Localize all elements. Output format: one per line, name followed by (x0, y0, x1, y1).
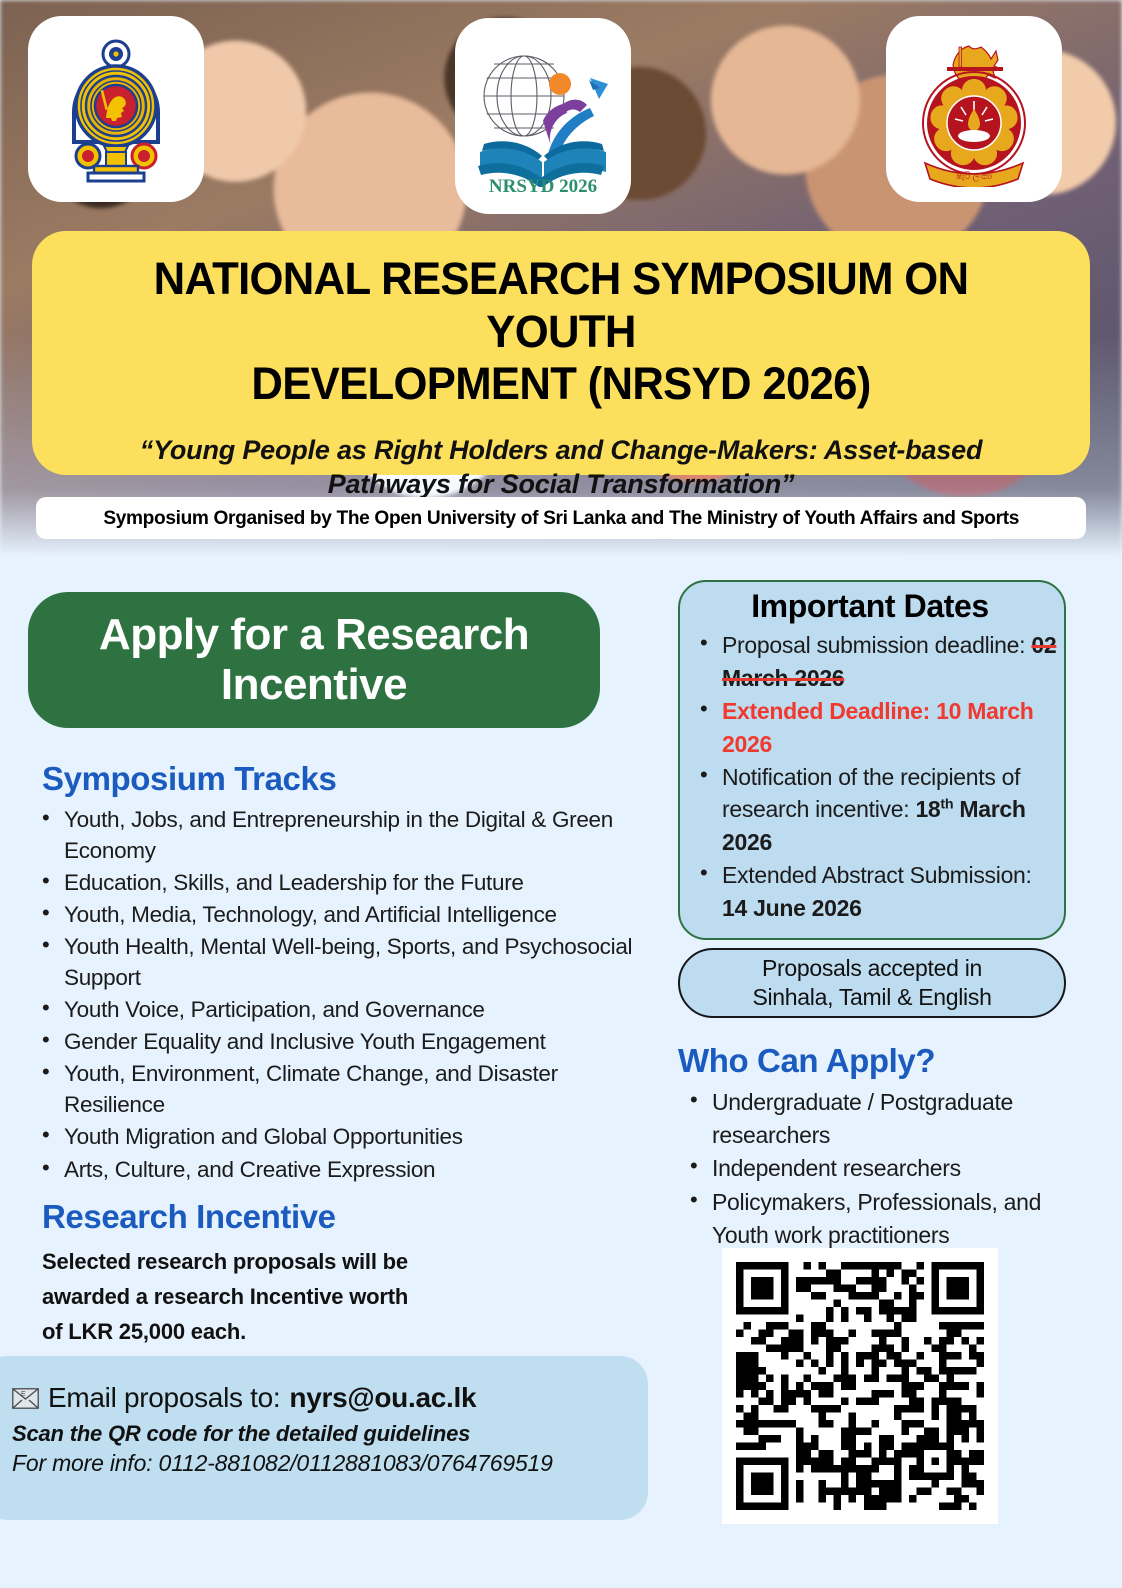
incentive-line-1: Selected research proposals will be (42, 1244, 562, 1279)
track-item: Gender Equality and Inclusive Youth Enga… (30, 1026, 650, 1057)
poster-title-banner: NATIONAL RESEARCH SYMPOSIUM ON YOUTH DEV… (32, 231, 1090, 475)
incentive-line-2: awarded a research Incentive worth (42, 1279, 562, 1314)
date-item-proposal-deadline: Proposal submission deadline: 02 March 2… (682, 629, 1058, 695)
sri-lanka-emblem-icon (46, 34, 186, 184)
nrsyd-2026-logo: NRSYD 2026 (455, 18, 631, 214)
research-incentive-heading: Research Incentive (42, 1198, 336, 1236)
svg-text:ෂැරි ලංකා: ෂැරි ලංකා (956, 171, 992, 182)
extended-abstract-label: Extended Abstract Submission: (722, 862, 1032, 888)
symposium-tracks-heading: Symposium Tracks (42, 760, 336, 798)
track-item: Youth, Environment, Climate Change, and … (30, 1058, 650, 1120)
track-item: Youth Migration and Global Opportunities (30, 1121, 650, 1152)
envelope-icon: E (12, 1388, 39, 1409)
notification-ordinal: th (940, 797, 953, 813)
svg-text:E: E (21, 1391, 26, 1398)
poster-title-line-1: NATIONAL RESEARCH SYMPOSIUM ON YOUTH (77, 253, 1045, 358)
apply-banner-label: Apply for a Research Incentive (28, 610, 600, 709)
important-dates-title: Important Dates (682, 588, 1058, 625)
qr-instruction: Scan the QR code for the detailed guidel… (12, 1421, 648, 1447)
research-incentive-body: Selected research proposals will be awar… (42, 1244, 562, 1350)
organiser-strip: Symposium Organised by The Open Universi… (36, 497, 1086, 539)
date-item-extended-abstract: Extended Abstract Submission: 14 June 20… (682, 859, 1058, 925)
poster-title-line-2: DEVELOPMENT (NRSYD 2026) (77, 358, 1045, 411)
incentive-line-3: of LKR 25,000 each. (42, 1314, 562, 1349)
svg-text:NRSYD 2026: NRSYD 2026 (489, 176, 597, 197)
track-item: Youth Health, Mental Well-being, Sports,… (30, 931, 650, 993)
poster-theme-line-2: Pathways for Social Transformation” (62, 467, 1060, 501)
track-item: Youth Voice, Participation, and Governan… (30, 994, 650, 1025)
poster-body: Apply for a Research Incentive Symposium… (0, 556, 1122, 1588)
proposal-deadline-label: Proposal submission deadline: (722, 632, 1025, 658)
poster-header: NRSYD 2026 (0, 0, 1122, 556)
poster-theme-line-1: “Young People as Right Holders and Chang… (62, 433, 1060, 467)
notification-day: 18 (915, 796, 940, 822)
date-item-notification: Notification of the recipients of resear… (682, 761, 1058, 860)
organiser-text: Symposium Organised by The Open Universi… (103, 507, 1019, 530)
extended-deadline-label: Extended Deadline: (722, 698, 930, 724)
who-can-apply-list: Undergraduate / Postgraduate researchers… (676, 1086, 1076, 1252)
email-address[interactable]: nyrs@ou.ac.lk (289, 1382, 476, 1414)
languages-line-1: Proposals accepted in (762, 954, 982, 983)
track-item: Arts, Culture, and Creative Expression (30, 1154, 650, 1185)
symposium-tracks-list: Youth, Jobs, and Entrepreneurship in the… (30, 804, 650, 1186)
important-dates-box: Important Dates Proposal submission dead… (678, 580, 1066, 940)
email-label: Email proposals to: (48, 1382, 280, 1414)
track-item: Youth, Jobs, and Entrepreneurship in the… (30, 804, 650, 866)
open-university-sri-lanka-logo: ෂැරි ලංකා (886, 16, 1062, 202)
track-item: Education, Skills, and Leadership for th… (30, 867, 650, 898)
applicant-item: Undergraduate / Postgraduate researchers (676, 1086, 1076, 1151)
languages-line-2: Sinhala, Tamil & English (752, 983, 991, 1012)
email-proposal-line: E Email proposals to: nyrs@ou.ac.lk (12, 1382, 648, 1414)
accepted-languages-box: Proposals accepted in Sinhala, Tamil & E… (678, 948, 1066, 1018)
sri-lanka-national-emblem-logo (28, 16, 204, 202)
contact-phone-numbers: For more info: 0112-881082/0112881083/07… (12, 1450, 648, 1477)
qr-code-icon (736, 1262, 984, 1510)
applicant-item: Independent researchers (676, 1152, 1076, 1185)
track-item: Youth, Media, Technology, and Artificial… (30, 899, 650, 930)
email-contact-box: E Email proposals to: nyrs@ou.ac.lk Scan… (0, 1356, 648, 1520)
date-item-extended-deadline: Extended Deadline: 10 March 2026 (682, 695, 1058, 761)
apply-for-research-incentive-banner[interactable]: Apply for a Research Incentive (28, 592, 600, 728)
applicant-item: Policymakers, Professionals, and Youth w… (676, 1186, 1076, 1251)
nrsyd-globe-book-icon: NRSYD 2026 (468, 34, 618, 199)
who-can-apply-heading: Who Can Apply? (678, 1042, 935, 1080)
qr-code[interactable] (722, 1248, 998, 1524)
ousl-emblem-icon: ෂැරි ලංකා (901, 31, 1047, 187)
extended-abstract-value: 14 June 2026 (722, 895, 862, 921)
